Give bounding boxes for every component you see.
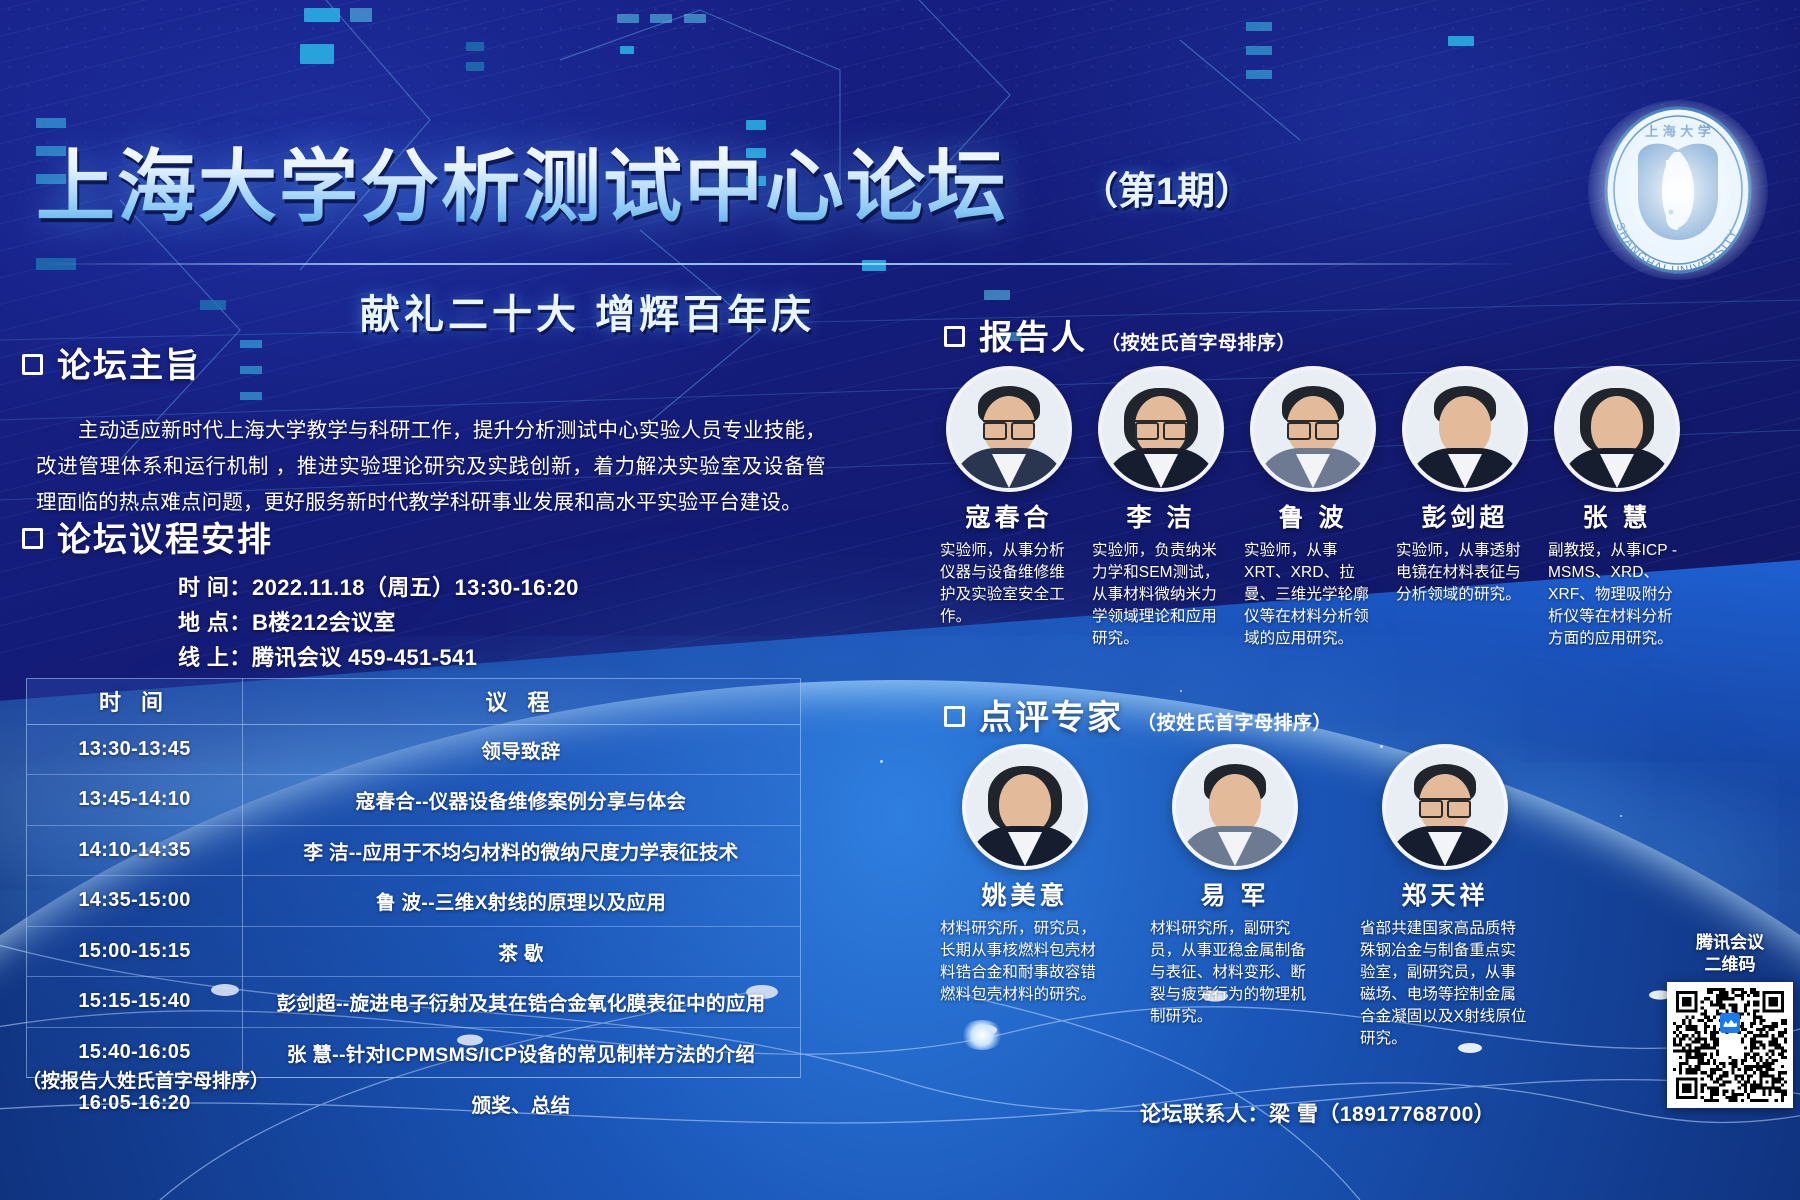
- speaker-name: 鲁 波: [1244, 498, 1382, 534]
- speaker-name: 张 慧: [1548, 498, 1686, 534]
- section-heading-experts: 点评专家 （按姓氏首字母排序）: [944, 690, 1332, 739]
- expert-description: 材料研究所，副研究员，从事亚稳金属制备与表征、材料变形、断裂与疲劳行为的物理机制…: [1150, 918, 1320, 1028]
- deco-chip: [466, 62, 484, 71]
- deco-chip: [300, 44, 334, 64]
- agenda-row-item: 李 洁--应用于不均匀材料的微纳尺度力学表征技术: [242, 825, 800, 876]
- avatar-glasses: [1419, 798, 1471, 813]
- agenda-table-column-divider: [242, 679, 243, 1077]
- page-subtitle: 献礼二十大 增辉百年庆: [360, 282, 815, 340]
- deco-chip: [984, 290, 1010, 300]
- deco-chip: [862, 260, 886, 271]
- expert-card: 姚美意 材料研究所，研究员，长期从事核燃料包壳材料锆合金和耐事故容错燃料包壳材料…: [940, 748, 1110, 1006]
- agenda-meta-time-value: 2022.11.18（周五）13:30-16:20: [252, 575, 579, 600]
- page-title: 上海大学分析测试中心论坛: [36, 122, 1008, 237]
- poster-root: 上海大学分析测试中心论坛 （第1期） 献礼二十大 增辉百年庆 上 海 大 学 S…: [0, 0, 1800, 1200]
- bullet-square-icon: [22, 354, 43, 375]
- agenda-row-time: 13:45-14:10: [27, 775, 242, 826]
- logo-glow: [1588, 100, 1768, 280]
- agenda-row-item: 茶 歇: [242, 926, 800, 977]
- agenda-meta-place: 地 点：B楼212会议室: [178, 605, 579, 640]
- avatar: [1102, 370, 1220, 488]
- deco-chip: [350, 8, 372, 22]
- avatar: [1558, 370, 1676, 488]
- qr-canvas: [1673, 988, 1787, 1102]
- speaker-description: 实验师，从事透射电镜在材料表征与分析领域的研究。: [1396, 540, 1534, 606]
- expert-card: 郑天祥 省部共建国家高品质特殊钢冶金与制备重点实验室，副研究员，从事磁场、电场等…: [1360, 748, 1530, 1050]
- agenda-meta-time: 时 间：2022.11.18（周五）13:30-16:20: [178, 570, 579, 605]
- deco-chip: [620, 46, 634, 54]
- deco-star: [880, 760, 883, 763]
- expert-description: 材料研究所，研究员，长期从事核燃料包壳材料锆合金和耐事故容错燃料包壳材料的研究。: [940, 918, 1110, 1006]
- deco-chip: [1448, 36, 1474, 46]
- agenda-row-item: 鲁 波--三维X射线的原理以及应用: [242, 876, 800, 927]
- tencent-meeting-icon: [1720, 1013, 1740, 1033]
- agenda-row-item: 张 慧--针对ICPMSMS/ICP设备的常见制样方法的介绍: [242, 1027, 800, 1078]
- speaker-description: 实验师，负责纳米力学和SEM测试，从事材料微纳米力学领域理论和应用研究。: [1092, 540, 1230, 650]
- agenda-meta-online: 线 上：腾讯会议 459-451-541: [178, 640, 579, 675]
- expert-description: 省部共建国家高品质特殊钢冶金与制备重点实验室，副研究员，从事磁场、电场等控制金属…: [1360, 918, 1530, 1050]
- shanghai-university-logo-icon: 上 海 大 学 SHANGHAI UNIVERSITY: [1588, 100, 1768, 280]
- speaker-card: 寇春合 实验师，从事分析仪器与设备维修维护及实验室安全工作。: [940, 370, 1078, 628]
- agenda-meta-time-label: 时 间：: [178, 570, 252, 605]
- bullet-square-icon: [22, 528, 43, 549]
- speaker-name: 彭剑超: [1396, 498, 1534, 534]
- speaker-description: 实验师，从事XRT、XRD、拉曼、三维光学轮廓仪等在材料分析领域的应用研究。: [1244, 540, 1382, 650]
- agenda-col-item: 议 程: [242, 679, 800, 724]
- speaker-card: 鲁 波 实验师，从事XRT、XRD、拉曼、三维光学轮廓仪等在材料分析领域的应用研…: [1244, 370, 1382, 650]
- agenda-table: 时 间 议 程 13:30-13:45领导致辞 13:45-14:10寇春合--…: [26, 678, 801, 1078]
- qr-code-image[interactable]: [1667, 982, 1793, 1108]
- agenda-row-time: 15:00-15:15: [27, 926, 242, 977]
- agenda-meta-online-label: 线 上：: [178, 640, 252, 675]
- deco-chip: [650, 14, 672, 23]
- table-row: 13:45-14:10寇春合--仪器设备维修案例分享与体会: [27, 775, 800, 826]
- speakers-heading-label: 报告人: [979, 310, 1087, 359]
- speaker-card: 李 洁 实验师，负责纳米力学和SEM测试，从事材料微纳米力学领域理论和应用研究。: [1092, 370, 1230, 650]
- title-divider: [40, 263, 1520, 265]
- deco-chip: [466, 42, 484, 51]
- deco-chip: [200, 300, 226, 310]
- speaker-description: 实验师，从事分析仪器与设备维修维护及实验室安全工作。: [940, 540, 1078, 628]
- table-row: 15:15-15:40彭剑超--旋进电子衍射及其在锆合金氧化膜表征中的应用: [27, 977, 800, 1028]
- agenda-meta-place-value: B楼212会议室: [252, 610, 396, 635]
- expert-card: 易 军 材料研究所，副研究员，从事亚稳金属制备与表征、材料变形、断裂与疲劳行为的…: [1150, 748, 1320, 1028]
- table-row: 13:30-13:45领导致辞: [27, 724, 800, 775]
- avatar-head: [1439, 396, 1491, 456]
- table-row: 15:00-15:15茶 歇: [27, 926, 800, 977]
- avatar-head: [1209, 774, 1261, 834]
- avatar: [950, 370, 1068, 488]
- agenda-row-time: 14:35-15:00: [27, 876, 242, 927]
- agenda-meta-place-label: 地 点：: [178, 605, 252, 640]
- speaker-description: 副教授，从事ICP - MSMS、XRD、XRF、物理吸附分析仪等在材料分析方面…: [1548, 540, 1686, 650]
- avatar-glasses: [1135, 420, 1187, 435]
- avatar-glasses: [983, 420, 1035, 435]
- agenda-row-item: 颁奖、总结: [242, 1078, 800, 1129]
- speaker-name: 寇春合: [940, 498, 1078, 534]
- purpose-body-text: 主动适应新时代上海大学教学与科研工作，提升分析测试中心实验人员专业技能，改进管理…: [36, 413, 826, 521]
- agenda-order-note: （按报告人姓氏首字母排序）: [22, 1066, 269, 1093]
- speaker-name: 李 洁: [1092, 498, 1230, 534]
- agenda-table-header-row: 时 间 议 程: [27, 679, 800, 724]
- avatar: [1406, 370, 1524, 488]
- avatar-head: [999, 774, 1051, 834]
- qr-label-line1: 腾讯会议: [1667, 932, 1793, 954]
- avatar: [1254, 370, 1372, 488]
- deco-star: [1620, 815, 1622, 817]
- expert-name: 易 军: [1150, 876, 1320, 912]
- agenda-row-time: 13:30-13:45: [27, 724, 242, 775]
- table-row: 14:10-14:35李 洁--应用于不均匀材料的微纳尺度力学表征技术: [27, 825, 800, 876]
- deco-chip: [684, 14, 706, 23]
- speaker-card: 彭剑超 实验师，从事透射电镜在材料表征与分析领域的研究。: [1396, 370, 1534, 606]
- expert-name: 郑天祥: [1360, 876, 1530, 912]
- forum-contact-text: 论坛联系人：梁 雪（18917768700）: [1140, 1098, 1495, 1128]
- agenda-meta-online-value: 腾讯会议 459-451-541: [252, 645, 477, 670]
- avatar: [966, 748, 1084, 866]
- qr-code-block: 腾讯会议 二维码: [1667, 932, 1793, 1108]
- deco-chip: [304, 8, 340, 22]
- speakers-heading-note: （按姓氏首字母排序）: [1101, 328, 1296, 355]
- agenda-row-item: 寇春合--仪器设备维修案例分享与体会: [242, 775, 800, 826]
- avatar-head: [1591, 396, 1643, 456]
- section-heading-agenda: 论坛议程安排: [22, 512, 273, 561]
- avatar-glasses: [1287, 420, 1339, 435]
- speaker-card: 张 慧 副教授，从事ICP - MSMS、XRD、XRF、物理吸附分析仪等在材料…: [1548, 370, 1686, 650]
- experts-heading-label: 点评专家: [979, 690, 1123, 739]
- page-title-edition: （第1期）: [1080, 160, 1253, 215]
- table-row: 14:35-15:00鲁 波--三维X射线的原理以及应用: [27, 876, 800, 927]
- purpose-heading-label: 论坛主旨: [57, 338, 201, 387]
- avatar: [1176, 748, 1294, 866]
- bullet-square-icon: [944, 706, 965, 727]
- deco-node: [960, 1020, 1004, 1050]
- avatar: [1386, 748, 1504, 866]
- section-heading-speakers: 报告人 （按姓氏首字母排序）: [944, 310, 1296, 359]
- expert-name: 姚美意: [940, 876, 1110, 912]
- agenda-col-time: 时 间: [27, 679, 242, 724]
- section-heading-purpose: 论坛主旨: [22, 338, 201, 387]
- agenda-row-item: 领导致辞: [242, 724, 800, 775]
- agenda-row-item: 彭剑超--旋进电子衍射及其在锆合金氧化膜表征中的应用: [242, 977, 800, 1028]
- agenda-meta-list: 时 间：2022.11.18（周五）13:30-16:20 地 点：B楼212会…: [178, 570, 579, 675]
- experts-heading-note: （按姓氏首字母排序）: [1137, 708, 1332, 735]
- qr-label-line2: 二维码: [1667, 954, 1793, 976]
- agenda-heading-label: 论坛议程安排: [57, 512, 273, 561]
- bullet-square-icon: [944, 326, 965, 347]
- agenda-row-time: 14:10-14:35: [27, 825, 242, 876]
- deco-chip: [617, 14, 639, 23]
- agenda-row-time: 15:15-15:40: [27, 977, 242, 1028]
